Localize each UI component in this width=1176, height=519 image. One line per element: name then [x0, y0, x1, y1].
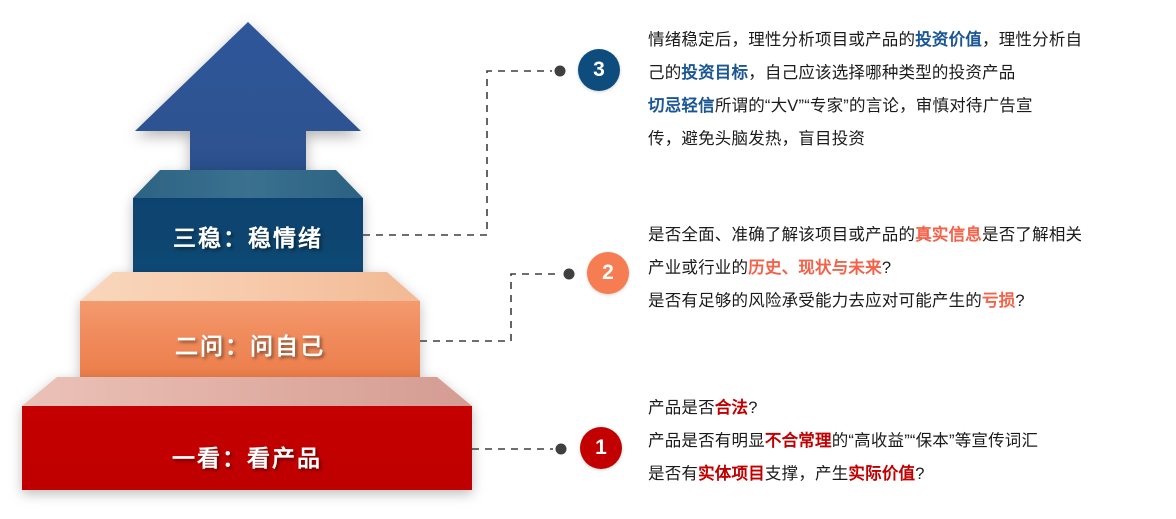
text-run: 是否有足够的风险承受能力去应对可能产生的	[648, 292, 982, 310]
highlight-run: 真实信息	[915, 226, 982, 244]
highlight-run: 实体项目	[698, 465, 765, 483]
highlight-run: 不合常理	[765, 432, 832, 450]
connector-dot-1	[556, 444, 567, 455]
text-run: 是否了解相关	[982, 226, 1082, 244]
text-run: ，自己应该选择哪种类型的投资产品	[748, 64, 1015, 82]
connector-dot-3	[555, 66, 566, 77]
text-run: ?	[748, 399, 757, 417]
text-run: 传，避免头脑发热，盲目投资	[648, 130, 865, 148]
text-run: 的“高收益”“保本”等宣传词汇	[832, 432, 1038, 450]
description-line: 产品是否合法?	[648, 392, 1168, 425]
description-block-2: 是否全面、准确了解该项目或产品的真实信息是否了解相关产业或行业的历史、现状与未来…	[648, 219, 1168, 318]
text-run: ?	[882, 259, 891, 277]
step-badge-2[interactable]: 2	[587, 252, 629, 294]
text-run: 是否全面、准确了解该项目或产品的	[648, 226, 915, 244]
description-line: 是否有足够的风险承受能力去应对可能产生的亏损?	[648, 285, 1168, 318]
description-line: 传，避免头脑发热，盲目投资	[648, 123, 1168, 156]
step-badge-1[interactable]: 1	[580, 427, 622, 469]
description-block-3: 情绪稳定后，理性分析项目或产品的投资价值，理性分析自己的投资目标，自己应该选择哪…	[648, 24, 1168, 156]
description-line: 是否全面、准确了解该项目或产品的真实信息是否了解相关	[648, 219, 1168, 252]
highlight-run: 投资价值	[915, 31, 982, 49]
text-run: 支撑，产生	[765, 465, 849, 483]
highlight-run: 切忌轻信	[648, 97, 715, 115]
text-run: ?	[915, 465, 924, 483]
description-line: 情绪稳定后，理性分析项目或产品的投资价值，理性分析自	[648, 24, 1168, 57]
text-run: 产品是否有明显	[648, 432, 765, 450]
pyramid-tier-1[interactable]	[22, 377, 472, 490]
highlight-run: 历史、现状与未来	[748, 259, 882, 277]
text-run: 是否有	[648, 465, 698, 483]
text-run: 所谓的“大V”“专家”的言论，审慎对待广告宣	[715, 97, 1033, 115]
description-line: 己的投资目标，自己应该选择哪种类型的投资产品	[648, 57, 1168, 90]
description-line: 产业或行业的历史、现状与未来?	[648, 252, 1168, 285]
description-block-1: 产品是否合法?产品是否有明显不合常理的“高收益”“保本”等宣传词汇是否有实体项目…	[648, 392, 1168, 491]
highlight-run: 亏损	[982, 292, 1015, 310]
text-run: 情绪稳定后，理性分析项目或产品的	[648, 31, 915, 49]
highlight-run: 投资目标	[681, 64, 748, 82]
highlight-run: 合法	[715, 399, 748, 417]
description-line: 切忌轻信所谓的“大V”“专家”的言论，审慎对待广告宣	[648, 90, 1168, 123]
description-line: 产品是否有明显不合常理的“高收益”“保本”等宣传词汇	[648, 425, 1168, 458]
pyramid-tier-3[interactable]	[133, 170, 363, 272]
highlight-run: 实际价值	[848, 465, 915, 483]
connector-dot-2	[564, 269, 575, 280]
text-run: 产品是否	[648, 399, 715, 417]
text-run: ?	[1015, 292, 1024, 310]
description-line: 是否有实体项目支撑，产生实际价值?	[648, 458, 1168, 491]
three-step-pyramid-graphic	[0, 0, 520, 519]
text-run: 己的	[648, 64, 681, 82]
pyramid-tier-2[interactable]	[80, 272, 420, 377]
infographic-canvas: 三稳：稳情绪 二问：问自己 一看：看产品 3 2 1 情绪稳定后，理性分析项目或…	[0, 0, 1176, 519]
text-run: 产业或行业的	[648, 259, 748, 277]
step-badge-3[interactable]: 3	[578, 49, 620, 91]
text-run: ，理性分析自	[982, 31, 1082, 49]
